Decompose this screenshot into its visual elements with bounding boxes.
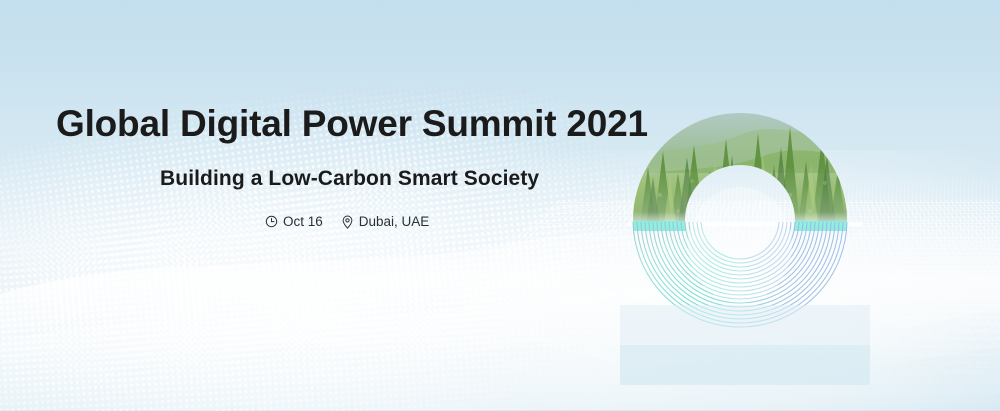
event-date-label: Oct 16 xyxy=(283,214,323,229)
page-title: Global Digital Power Summit 2021 xyxy=(56,103,648,145)
forest-ring-svg xyxy=(620,55,870,385)
event-banner: Global Digital Power Summit 2021 Buildin… xyxy=(0,0,1000,411)
play-icon xyxy=(348,312,360,326)
location-pin-icon xyxy=(341,215,354,229)
event-location: Dubai, UAE xyxy=(341,214,430,229)
event-location-label: Dubai, UAE xyxy=(359,214,430,229)
event-meta: Oct 16 Dubai, UAE xyxy=(265,214,429,229)
forest-ring-graphic xyxy=(620,55,870,385)
clock-icon xyxy=(265,215,278,228)
event-date: Oct 16 xyxy=(265,214,323,229)
page-subtitle: Building a Low-Carbon Smart Society xyxy=(160,167,539,191)
play-button[interactable] xyxy=(328,295,376,343)
